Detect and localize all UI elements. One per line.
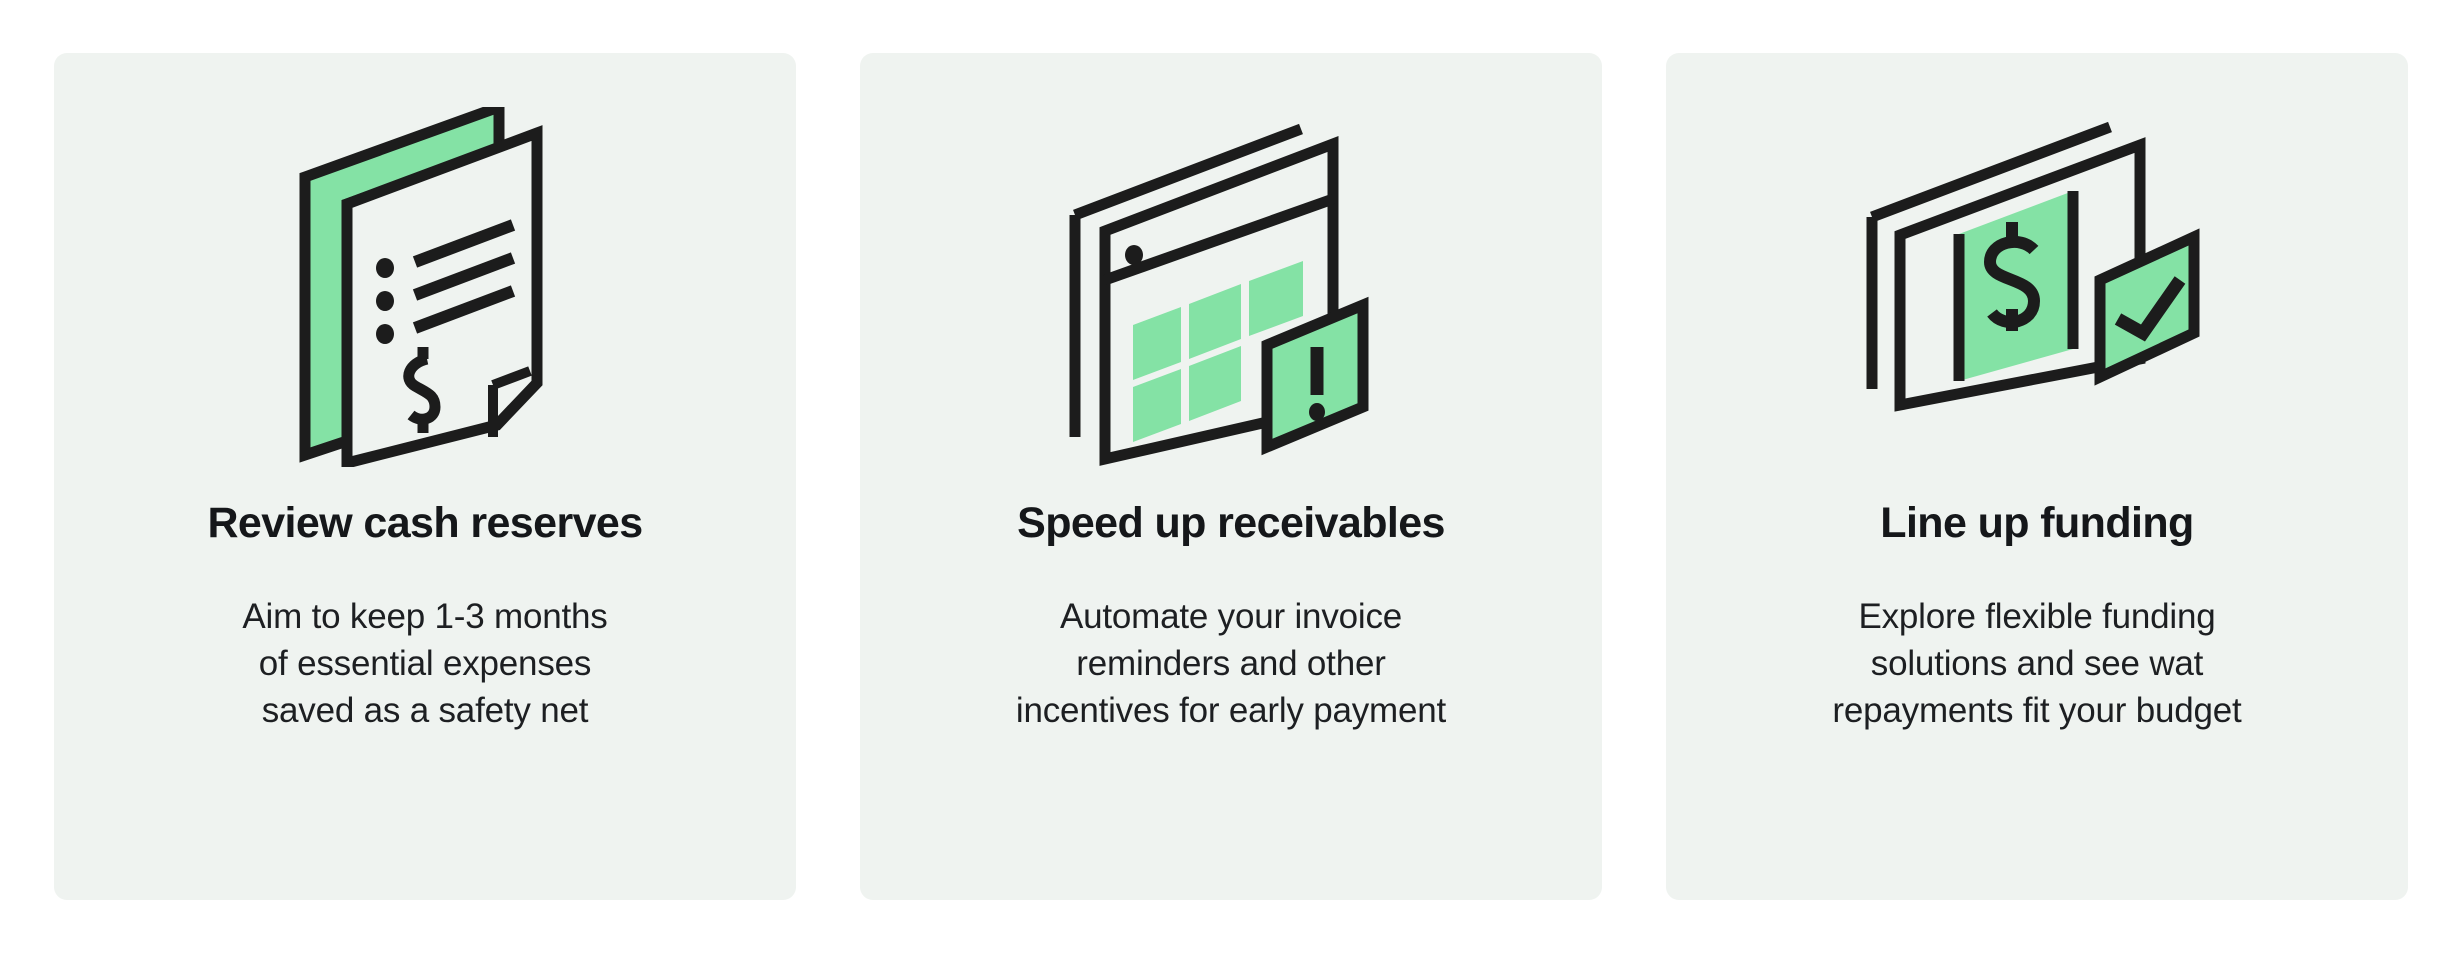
card-speed-up-receivables[interactable]: Speed up receivables Automate your invoi… [860, 53, 1602, 900]
banknote-dollar-check-icon [1827, 97, 2247, 477]
card-body-line: reminders and other [1016, 641, 1446, 688]
card-body-line: Automate your invoice [1016, 594, 1446, 641]
card-body-line: incentives for early payment [1016, 688, 1446, 735]
card-body: Explore flexible funding solutions and s… [1832, 594, 2241, 735]
card-body-line: repayments fit your budget [1832, 688, 2241, 735]
invoice-document-dollar-icon [215, 97, 635, 477]
card-review-cash-reserves[interactable]: Review cash reserves Aim to keep 1-3 mon… [54, 53, 796, 900]
card-line-up-funding[interactable]: Line up funding Explore flexible funding… [1666, 53, 2408, 900]
card-title: Speed up receivables [1017, 499, 1445, 548]
browser-invoice-alert-icon [1021, 97, 1441, 477]
card-body-line: solutions and see wat [1832, 641, 2241, 688]
card-body: Aim to keep 1-3 months of essential expe… [242, 594, 607, 735]
cards-board: Review cash reserves Aim to keep 1-3 mon… [0, 0, 2464, 956]
card-body: Automate your invoice reminders and othe… [1016, 594, 1446, 735]
card-title: Line up funding [1880, 499, 2193, 548]
card-body-line: saved as a safety net [242, 688, 607, 735]
card-title: Review cash reserves [207, 499, 642, 548]
card-body-line: Explore flexible funding [1832, 594, 2241, 641]
card-body-line: of essential expenses [242, 641, 607, 688]
card-body-line: Aim to keep 1-3 months [242, 594, 607, 641]
